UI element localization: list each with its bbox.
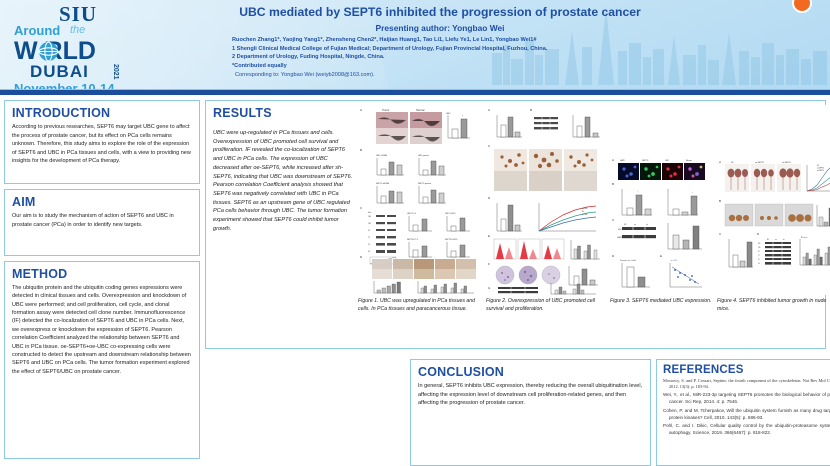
svg-text:r = -0.56: r = -0.56	[670, 260, 677, 262]
results-text: UBC were up-regulated in PCa tissues and…	[213, 129, 353, 234]
svg-text:180: 180	[758, 243, 761, 245]
introduction-text: According to previous researches, SEPT6 …	[12, 123, 192, 166]
presenting-author: Presenting author: Yongbao Wei	[205, 23, 675, 33]
svg-text:oe-SEPT6: oe-SEPT6	[817, 168, 824, 170]
svg-text:SEPT6 DU145: SEPT6 DU145	[445, 239, 457, 241]
svg-text:A: A	[612, 158, 614, 162]
aim-heading: AIM	[12, 195, 192, 209]
logo-world-row: W RLD	[14, 39, 134, 63]
logo-siu-text: SIU	[22, 4, 134, 25]
affiliation-2: 2 Department of Urology, Fuding Hospital…	[232, 53, 652, 62]
svg-text:B: B	[612, 182, 614, 186]
svg-text:GAPDH: GAPDH	[617, 236, 624, 239]
svg-text:NC oe sh: NC oe sh	[801, 237, 807, 239]
figure-1-caption: Figure 1. UBC was upregulated in PCa tis…	[358, 298, 482, 313]
svg-text:A: A	[719, 160, 721, 164]
left-column: INTRODUCTION According to previous resea…	[4, 100, 200, 459]
main-column: RESULTS UBC were up-regulated in PCa tis…	[205, 100, 826, 349]
figure-4-block: A NC oe-SEPT6 sh-SEPT6	[717, 105, 830, 313]
figure-2-caption: Figure 2. Overexpression of UBC promoted…	[486, 298, 606, 313]
poster-page: SIU Around the W RLD DUBAI 2021 November…	[0, 0, 830, 466]
svg-text:oe-UBC: oe-UBC	[582, 208, 589, 210]
figure-2-image: A B	[486, 105, 606, 295]
svg-text:180: 180	[368, 216, 371, 218]
svg-text:UBC mRNA: UBC mRNA	[376, 154, 387, 157]
logo-dates-text: November 10-14	[14, 82, 134, 89]
reference-item: Pohl, C. and I. Dikic, Cellular quality …	[663, 423, 830, 437]
svg-text:A: A	[360, 108, 362, 112]
svg-text:UBC: UBC	[446, 113, 451, 115]
panel-results: RESULTS UBC were up-regulated in PCa tis…	[205, 100, 826, 349]
panel-references: REFERENCES Mostowy, S. and P. Cossart, S…	[656, 359, 830, 466]
logo-dubai-row: DUBAI 2021	[14, 63, 134, 81]
svg-text:oe: oe	[775, 239, 777, 241]
aim-text: Our aim is to study the mechanism of act…	[12, 212, 192, 229]
svg-text:*: *	[692, 193, 693, 195]
figure-3-block: A DAPI SEPT6 UBC Merge	[610, 105, 713, 306]
svg-text:sh-UBC: sh-UBC	[582, 214, 588, 216]
conclusion-text: In general, SEPT6 inhibits UBC expressio…	[418, 382, 643, 408]
svg-text:SEPT6: SEPT6	[642, 160, 649, 162]
figure-3-caption: Figure 3. SEPT6 mediated UBC expression.	[610, 298, 713, 306]
svg-text:72: 72	[368, 237, 370, 239]
panel-method: METHOD The ubiquitin protein and the ubi…	[4, 261, 200, 459]
method-heading: METHOD	[12, 267, 192, 281]
svg-text:B: B	[360, 148, 362, 152]
figure-1-block: A TumorNormal	[358, 105, 482, 313]
figure-3-image: A DAPI SEPT6 UBC Merge	[610, 105, 713, 295]
method-text: The ubiquitin protein and the ubiquitin …	[12, 284, 192, 376]
author-list: Ruochen Zhang1*, Yaojing Yang1*, Zhenshe…	[232, 36, 652, 45]
svg-text:sh-SEPT6: sh-SEPT6	[817, 170, 824, 172]
logo-around-text: Around	[14, 24, 60, 37]
svg-text:E: E	[660, 254, 662, 258]
svg-text:B: B	[530, 108, 532, 112]
references-heading: REFERENCES	[663, 364, 830, 376]
svg-text:Pearson corr. Coeff.: Pearson corr. Coeff.	[620, 260, 636, 262]
svg-text:130: 130	[758, 247, 761, 249]
corresponding-author: Corresponding to: Yongbao Wei (weiyb2008…	[232, 71, 652, 80]
svg-text:Tumor: Tumor	[382, 108, 390, 112]
logo-dubai-text: DUBAI	[30, 62, 89, 81]
conclusion-heading: CONCLUSION	[418, 365, 643, 379]
svg-text:oe: oe	[634, 224, 636, 226]
svg-text:95: 95	[758, 251, 760, 253]
svg-text:E: E	[488, 234, 490, 238]
figure-2-block: A B	[486, 105, 606, 313]
bottom-row: CONCLUSION In general, SEPT6 inhibits UB…	[410, 359, 830, 466]
figure-4-caption: Figure 4. SEPT6 inhibited tumor growth i…	[717, 298, 830, 313]
logo-year-text: 2021	[112, 64, 119, 80]
svg-text:UBC: UBC	[665, 160, 670, 162]
authors-block: Ruochen Zhang1*, Yaojing Yang1*, Zhenshe…	[232, 36, 652, 79]
svg-text:UBC protein: UBC protein	[418, 154, 429, 157]
svg-text:43: 43	[758, 263, 760, 265]
svg-text:UBC PC-3: UBC PC-3	[407, 213, 416, 215]
panel-aim: AIM Our aim is to study the mechanism of…	[4, 189, 200, 256]
contributed-equally-note: *Contributed equally	[232, 62, 652, 71]
svg-text:72: 72	[758, 255, 760, 257]
svg-text:kDa: kDa	[368, 212, 371, 214]
svg-text:130: 130	[368, 223, 371, 225]
panel-conclusion: CONCLUSION In general, SEPT6 inhibits UB…	[410, 359, 651, 466]
svg-text:Normal: Normal	[416, 108, 425, 112]
svg-text:55: 55	[368, 244, 370, 246]
reference-item: Cohen, P. and M. Tcherpakov, Will the ub…	[663, 408, 830, 422]
svg-text:55: 55	[758, 259, 760, 261]
page-title: UBC mediated by SEPT6 inhibited the prog…	[205, 5, 675, 20]
svg-text:SEPT6 mRNA: SEPT6 mRNA	[376, 182, 389, 185]
svg-text:*: *	[462, 115, 463, 118]
svg-text:DAPI: DAPI	[620, 159, 625, 162]
svg-text:95: 95	[368, 230, 370, 232]
affiliation-1: 1 Shengli Clinical Medical College of Fu…	[232, 45, 652, 54]
globe-icon	[38, 41, 59, 62]
svg-text:43: 43	[368, 251, 370, 253]
reference-item: Wei, Y., et al., MiR-223-3p targeting SE…	[663, 392, 830, 406]
svg-text:B: B	[719, 199, 721, 203]
svg-text:Merge: Merge	[686, 160, 693, 162]
panel-introduction: INTRODUCTION According to previous resea…	[4, 100, 200, 184]
svg-text:*: *	[637, 192, 638, 194]
poster-header: SIU Around the W RLD DUBAI 2021 November…	[0, 0, 830, 89]
svg-text:SEPT6 protein: SEPT6 protein	[418, 182, 431, 185]
svg-text:F: F	[488, 262, 490, 266]
introduction-heading: INTRODUCTION	[12, 106, 192, 120]
svg-text:oe-SEPT6: oe-SEPT6	[755, 162, 764, 164]
figure-4-image: A NC oe-SEPT6 sh-SEPT6	[717, 105, 830, 295]
figures-row: A TumorNormal	[358, 105, 821, 344]
title-block: UBC mediated by SEPT6 inhibited the prog…	[205, 5, 675, 33]
poster-body: INTRODUCTION According to previous resea…	[0, 95, 830, 466]
logo-the-text: the	[70, 25, 85, 36]
svg-text:sh: sh	[646, 224, 648, 226]
svg-text:sh-SEPT6: sh-SEPT6	[782, 162, 791, 164]
svg-text:SEPT6 PC-3: SEPT6 PC-3	[407, 239, 418, 241]
figure-1-image: A TumorNormal	[358, 105, 482, 295]
svg-text:UBC DU145: UBC DU145	[445, 213, 455, 215]
svg-text:sh: sh	[783, 239, 785, 241]
siu-logo: SIU Around the W RLD DUBAI 2021 November…	[14, 4, 134, 86]
reference-item: Mostowy, S. and P. Cossart, Septins: the…	[663, 378, 830, 391]
svg-text:A: A	[488, 108, 490, 112]
